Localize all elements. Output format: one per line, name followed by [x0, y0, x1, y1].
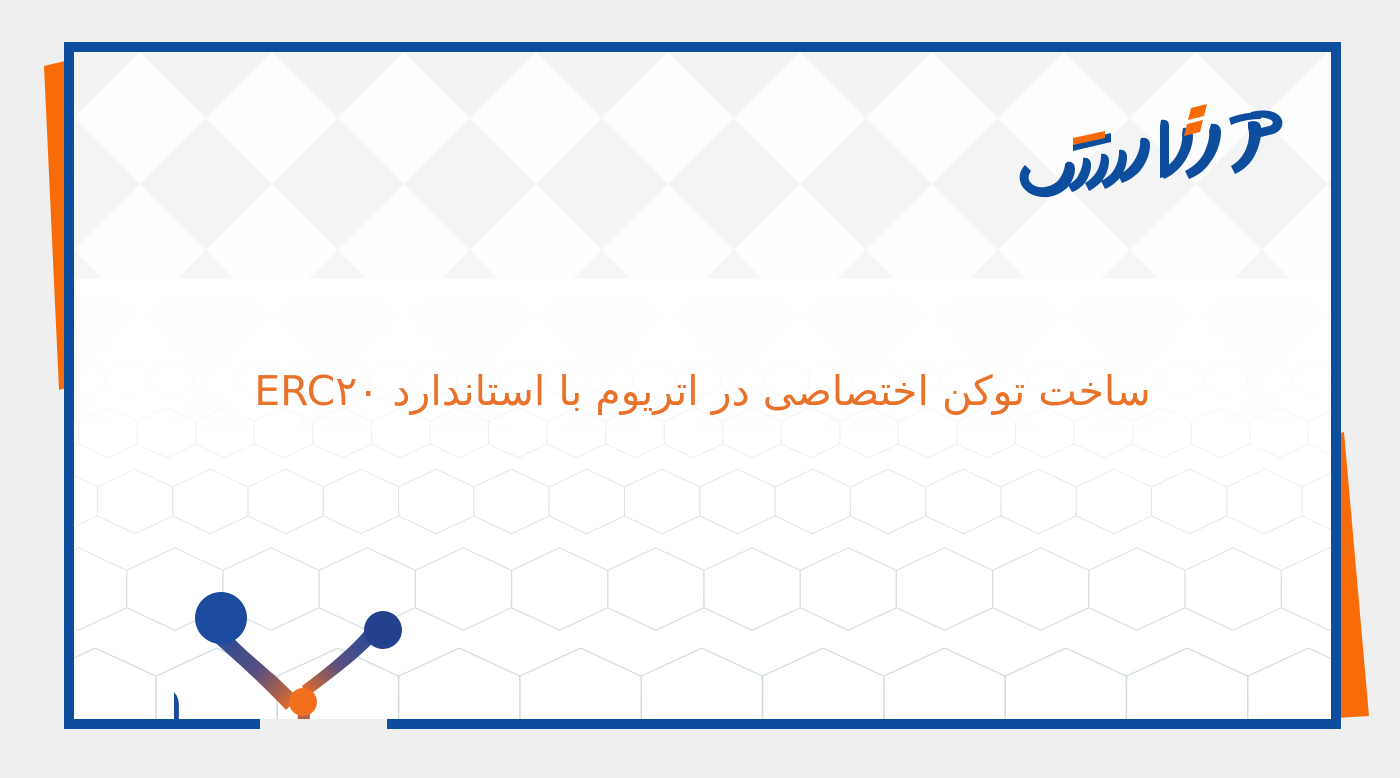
center-node: [289, 688, 317, 716]
blockchain-technology-logo[interactable]: blockchain technology: [174, 582, 614, 719]
frame-border-bottom-right: [387, 719, 1341, 729]
frame-border-top: [64, 42, 1341, 52]
page-title: ساخت توکن اختصاصی در اتریوم با استاندارد…: [74, 362, 1331, 421]
slide-frame: ساخت توکن اختصاصی در اتریوم با استاندارد…: [64, 42, 1341, 729]
frame-border-left: [64, 42, 74, 729]
frame-border-right: [1331, 42, 1341, 729]
blockchain-wordmark: blockchain: [174, 663, 184, 719]
slide-inner-canvas: ساخت توکن اختصاصی در اتریوم با استاندارد…: [74, 52, 1331, 719]
slide-canvas: ساخت توکن اختصاصی در اتریوم با استاندارد…: [0, 0, 1400, 778]
arzarsaneh-logo[interactable]: [1015, 94, 1285, 204]
frame-border-bottom-left: [64, 719, 260, 729]
